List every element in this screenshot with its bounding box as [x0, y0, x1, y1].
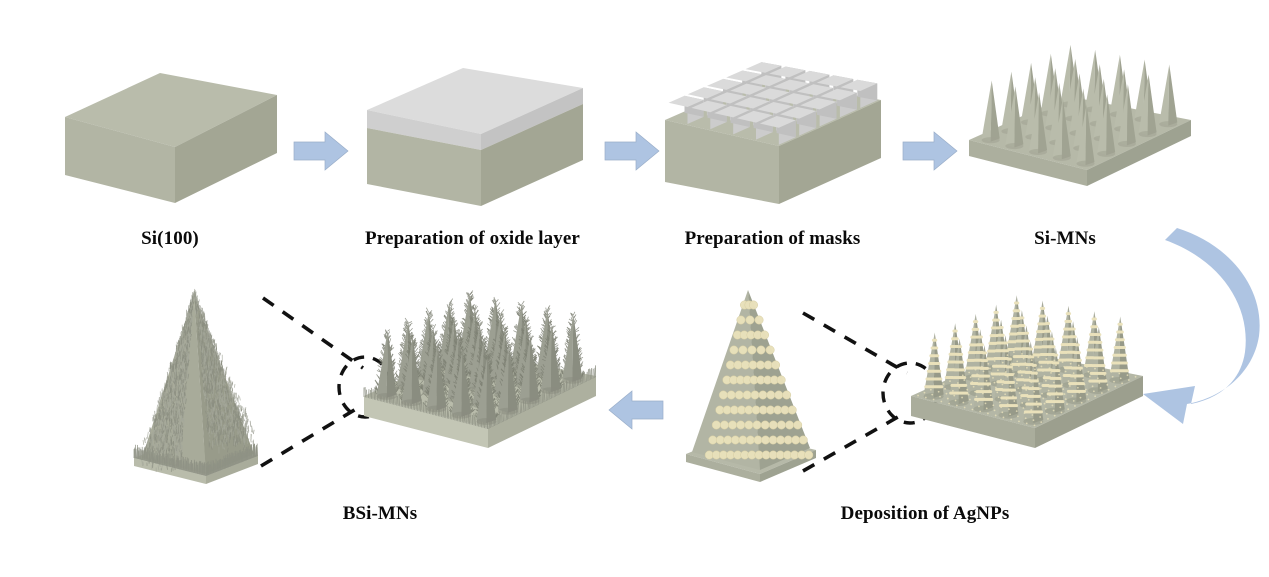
masked-slab-icon [655, 58, 890, 223]
arrow-3 [903, 131, 959, 171]
bsi-cone-magnified-icon [118, 280, 278, 490]
agnp-cone-array-icon [895, 300, 1160, 495]
arrow-2 [605, 131, 661, 171]
figure-canvas: Si(100) Preparation of oxide layer [0, 0, 1269, 577]
step-2-oxide-slab [355, 58, 590, 218]
step-5-agnp-array [895, 300, 1160, 495]
cone-array-icon [955, 48, 1205, 228]
arrow-right-icon [605, 131, 661, 171]
step-4-si-mns [955, 48, 1205, 228]
magnified-bsi-cone [118, 280, 278, 490]
callout-leader-bottom [261, 406, 361, 466]
arrow-5 [609, 390, 665, 430]
caption-step-6: BSi-MNs [280, 503, 480, 525]
arrow-1 [294, 131, 350, 171]
oxide-coated-slab-icon [355, 58, 590, 218]
caption-step-5: Deposition of AgNPs [800, 503, 1050, 525]
caption-step-2: Preparation of oxide layer [330, 228, 615, 250]
arrow-left-icon [609, 390, 665, 430]
arrow-right-icon [903, 131, 959, 171]
caption-step-3: Preparation of masks [650, 228, 895, 250]
callout-leader-bottom [803, 413, 905, 471]
black-silicon-cone-array-icon [348, 300, 613, 495]
callout-leader-top [803, 313, 907, 373]
silicon-slab-icon [55, 55, 285, 215]
step-3-masked-slab [655, 58, 890, 223]
step-1-silicon-slab [55, 55, 285, 215]
arrow-right-icon [294, 131, 350, 171]
step-6-bsi-array [348, 300, 613, 495]
caption-step-1: Si(100) [55, 228, 285, 250]
